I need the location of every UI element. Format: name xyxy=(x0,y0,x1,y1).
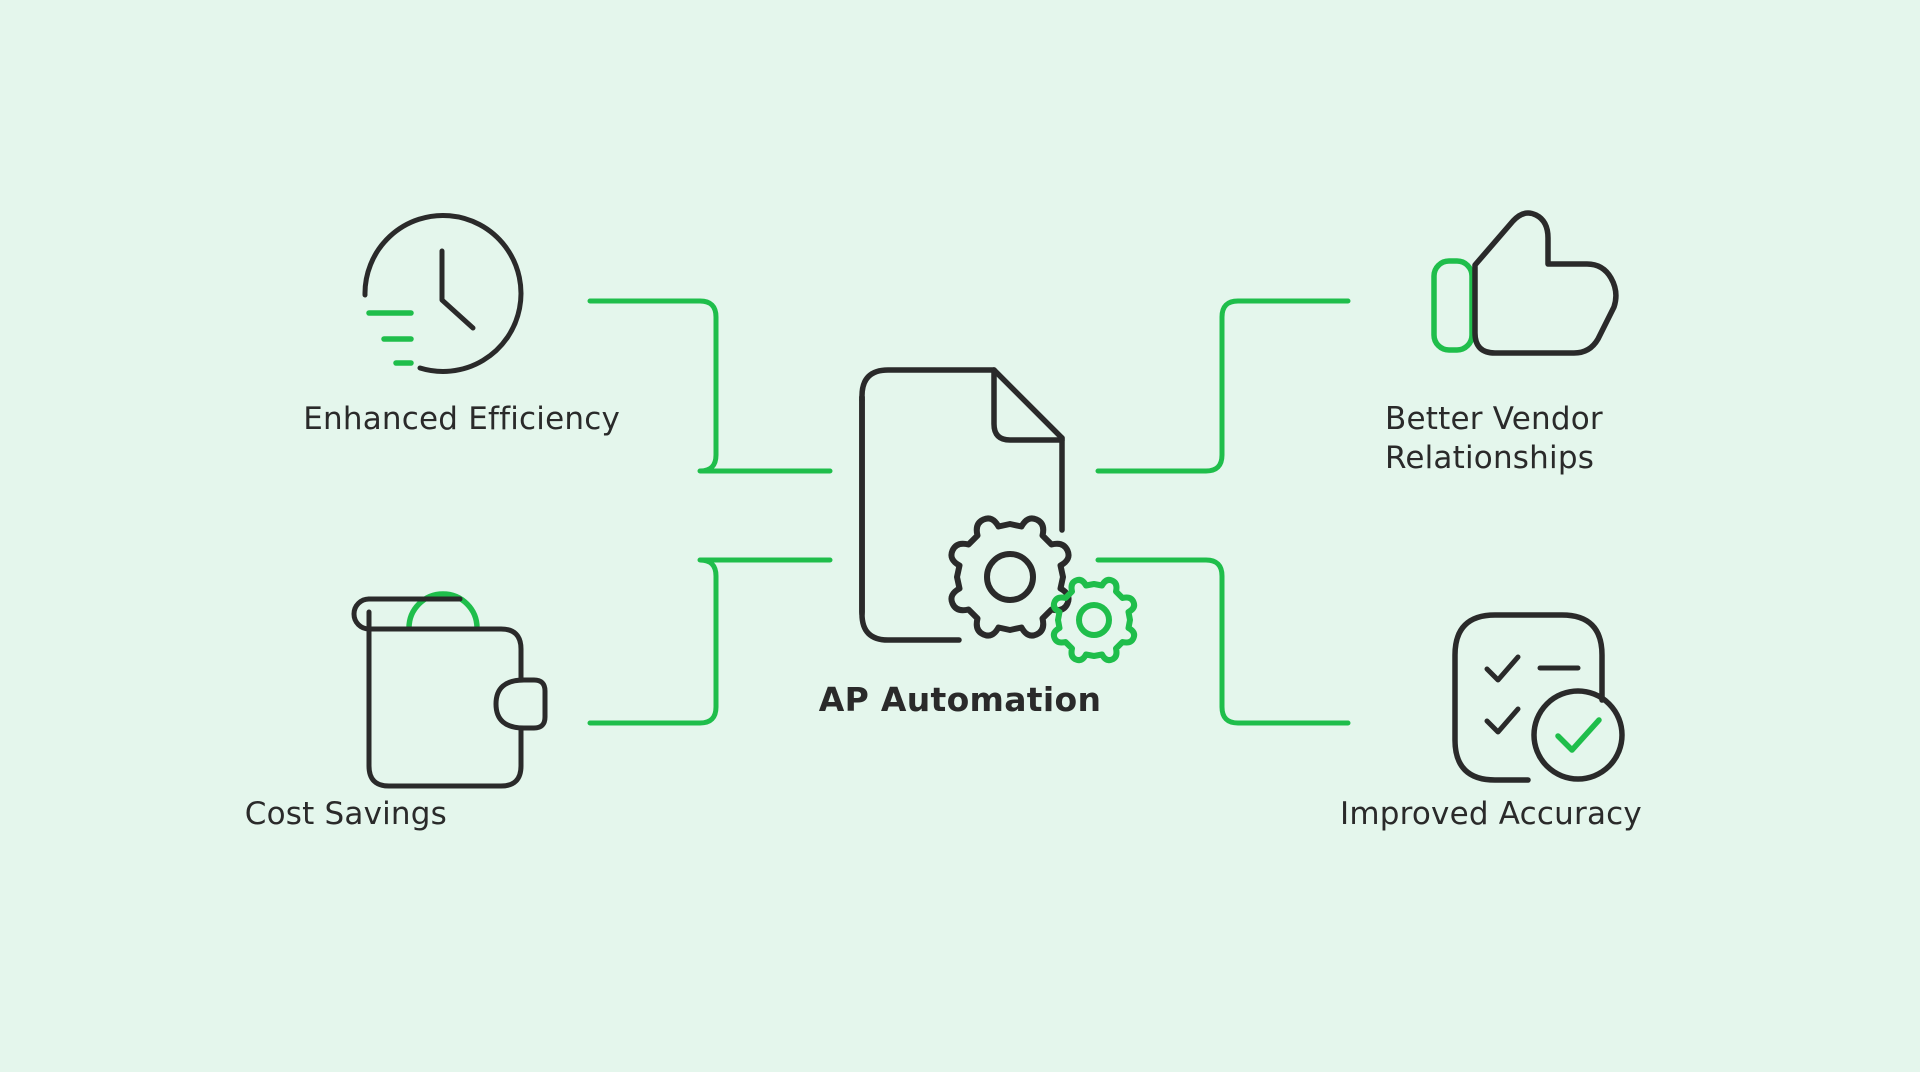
branch-label-better-vendor-relationships: Better Vendor Relationships xyxy=(1385,400,1603,478)
clock-speed-icon xyxy=(365,215,521,371)
diagram-artwork xyxy=(0,0,1920,1072)
checklist-check-1 xyxy=(1487,657,1518,680)
verified-badge-check xyxy=(1558,720,1599,750)
document-body-left-lower xyxy=(862,398,959,640)
connector-top-left xyxy=(590,301,830,471)
clock-hands xyxy=(442,251,473,328)
connector-group xyxy=(590,301,1348,723)
gear-large-icon xyxy=(951,518,1068,635)
thumbs-up-hand xyxy=(1475,213,1616,353)
diagram-canvas: Enhanced Efficiency Cost Savings Better … xyxy=(0,0,1920,1072)
gear-large-teeth xyxy=(951,518,1068,635)
branch-label-cost-savings: Cost Savings xyxy=(245,795,447,834)
connector-top-right xyxy=(1098,301,1348,471)
wallet-body-top xyxy=(369,629,521,680)
thumbs-up-icon xyxy=(1434,213,1616,353)
gear-large-hub xyxy=(987,554,1033,600)
branch-label-enhanced-efficiency: Enhanced Efficiency xyxy=(303,400,620,439)
branch-label-improved-accuracy: Improved Accuracy xyxy=(1340,795,1642,834)
document-top-left-corner xyxy=(862,370,994,400)
document-fold-diagonal xyxy=(994,370,1062,438)
center-node-title: AP Automation xyxy=(0,680,1920,719)
clock-speed-lines xyxy=(369,313,411,363)
thumbs-up-cuff xyxy=(1434,261,1472,350)
document-with-gears-icon xyxy=(862,370,1062,640)
gear-small-hub xyxy=(1079,605,1109,635)
